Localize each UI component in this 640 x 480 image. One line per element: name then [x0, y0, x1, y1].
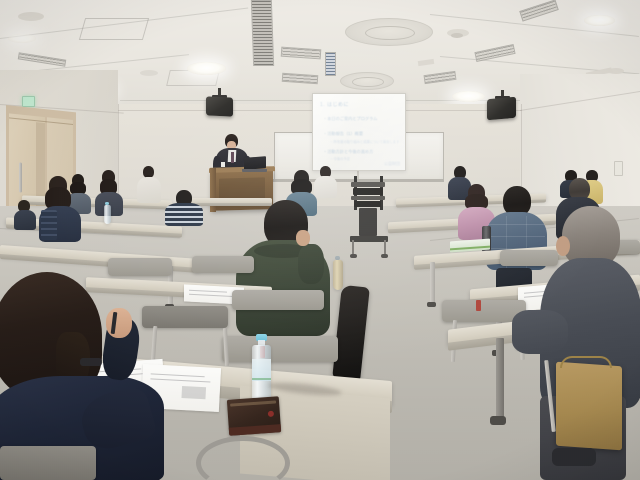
projection-screen: 1. はじめに ・本日のご案内とプログラム ・活動報告（1）概要 ─ 昨年度の取… [312, 93, 406, 171]
attendee-ear [556, 236, 570, 256]
notebook-stripe [450, 246, 490, 251]
vest-quilt-line [488, 236, 545, 237]
slide-title: 1. はじめに [320, 101, 402, 108]
circular-air-diffuser [340, 72, 394, 90]
desk-caster [490, 416, 506, 425]
recessed-ceiling-light [584, 15, 615, 26]
av-equipment-cart [350, 176, 390, 258]
water-bottle-foreground[interactable] [251, 334, 273, 404]
cart-base-shelf [350, 236, 388, 242]
ceiling-speaker-right [486, 90, 518, 122]
desk-caster [427, 302, 436, 307]
speaker-box [206, 96, 233, 116]
ceiling-sensor-dot [18, 12, 44, 21]
attendee-top [14, 210, 36, 230]
bag-handle [560, 356, 612, 368]
attendee-cardigan [137, 177, 161, 203]
slide-bullet-2: ・活動報告（1）概要 [323, 131, 403, 137]
wallet-stitching [230, 400, 276, 406]
recessed-ceiling-light [452, 91, 485, 102]
attendee-far-left [14, 200, 36, 230]
slide-bullet-1: ・本日のご案内とプログラム [323, 116, 403, 122]
wallet-notebook[interactable] [227, 396, 281, 436]
desk-leg [430, 262, 435, 304]
cart-shelf-mid [351, 196, 385, 200]
circular-air-diffuser [345, 18, 433, 46]
water-bottle-left[interactable] [103, 202, 111, 224]
chair-back-foreground[interactable] [222, 336, 338, 362]
ceiling-sensor-dot [140, 70, 158, 76]
tote-bag-khaki[interactable] [556, 362, 622, 451]
laptop-screen [244, 156, 266, 170]
cart-caster [350, 254, 357, 258]
chair-back-foreground-left[interactable] [0, 446, 96, 480]
chair-back[interactable] [232, 290, 324, 310]
attendee-striped-top [165, 203, 203, 226]
cart-caster [381, 254, 388, 258]
ceiling-speaker-left [205, 88, 235, 118]
desk-leg [496, 338, 504, 420]
attendee-hand [296, 230, 310, 246]
bottle-body [104, 205, 111, 224]
presenter-name-badge [221, 162, 225, 167]
emergency-exit-sign [22, 96, 35, 107]
presenter-laptop[interactable] [242, 157, 267, 173]
linear-air-vent [325, 52, 336, 76]
attendee-shoe [552, 448, 596, 466]
attendee-arm [298, 244, 324, 284]
recessed-ceiling-light [187, 62, 226, 75]
bottle-body [252, 345, 271, 403]
water-bottle-center[interactable] [332, 256, 343, 290]
bottle-label-stripe [252, 378, 271, 380]
wallet-clasp [268, 411, 274, 417]
attendee-left-plaid-scarf-woman [38, 176, 82, 242]
slide-bullet-3: ・活動方針と今後の進め方 [323, 149, 403, 155]
cart-column [359, 208, 377, 236]
slide-footer: 公益財団 [384, 161, 400, 167]
eyeglasses[interactable] [80, 358, 102, 366]
cart-device [353, 188, 383, 195]
speaker-box [487, 97, 516, 121]
door-handle[interactable] [19, 162, 22, 192]
bottle-body [333, 260, 343, 290]
attendee-hand [106, 308, 132, 338]
ceiling-sensor-dot [451, 33, 463, 38]
ceiling-access-panel [79, 18, 149, 40]
vest-quilt-line [488, 224, 545, 225]
chair-number-tag [476, 300, 481, 311]
attendee-center-striped-shirt [164, 190, 204, 226]
wall-switch-plate[interactable] [614, 161, 623, 176]
laptop-base [242, 169, 267, 172]
plaid-scarf [41, 210, 57, 240]
linear-air-vent [251, 0, 274, 66]
presenter-tie [231, 152, 234, 163]
cart-shelf-top [351, 182, 385, 187]
attendee-left-white-cardigan [136, 166, 162, 204]
lecture-room-photo: 1. はじめに ・本日のご案内とプログラム ・活動報告（1）概要 ─ 昨年度の取… [0, 0, 640, 480]
slide-subtext-2: ─ 昨年度の取り組みと成果について報告します [327, 139, 403, 144]
chair-back[interactable] [192, 256, 254, 273]
cart-device [354, 201, 381, 207]
recessed-ceiling-light [8, 34, 36, 43]
attendee-arm [512, 310, 568, 354]
